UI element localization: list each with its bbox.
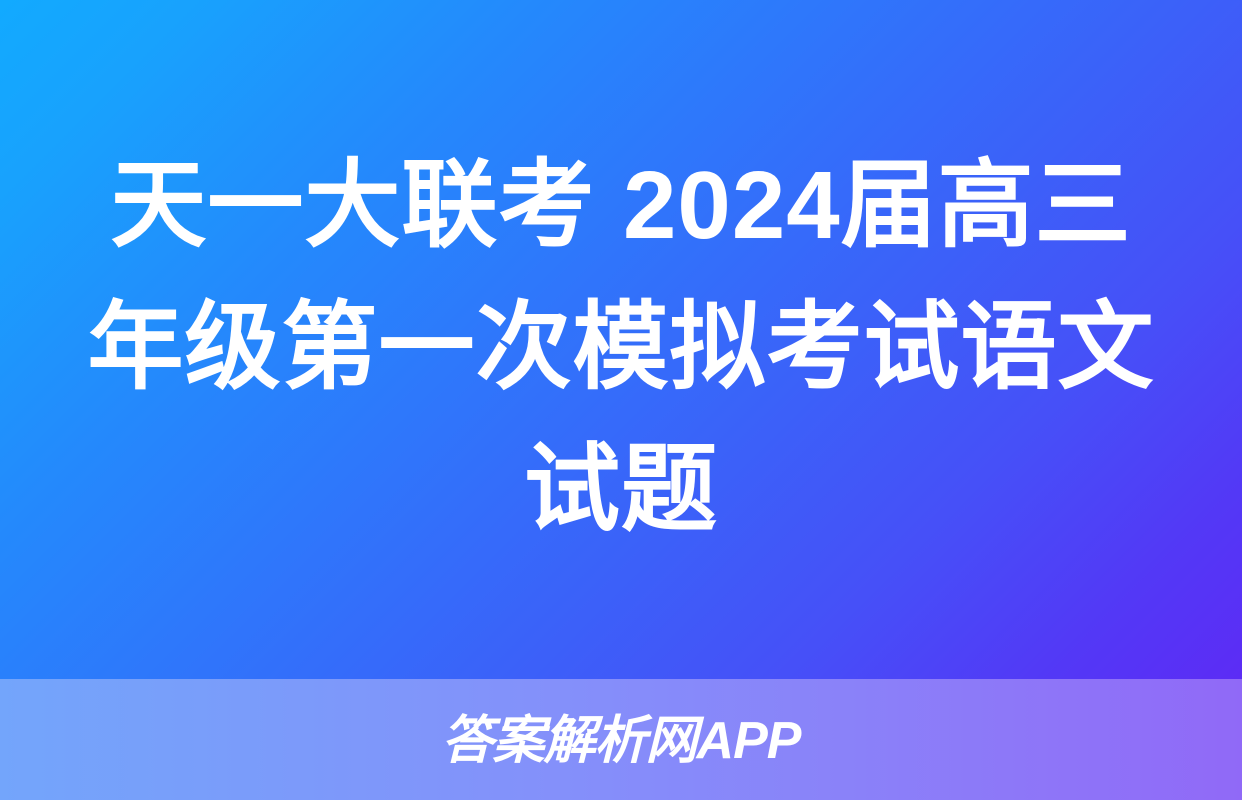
watermark-band: 答案解析网APP	[0, 679, 1242, 800]
hero-gradient-background: 天一大联考 2024届高三 年级第一次模拟考试语文 试题	[0, 0, 1242, 679]
watermark-app-label: 答案解析网APP	[442, 711, 801, 771]
exam-title-card: 天一大联考 2024届高三 年级第一次模拟考试语文 试题 答案解析网APP	[0, 0, 1242, 800]
page-title: 天一大联考 2024届高三 年级第一次模拟考试语文 试题	[61, 135, 1181, 561]
title-line-3: 试题	[69, 419, 1173, 561]
title-line-2: 年级第一次模拟考试语文	[69, 277, 1173, 419]
title-line-1: 天一大联考 2024届高三	[69, 135, 1173, 277]
